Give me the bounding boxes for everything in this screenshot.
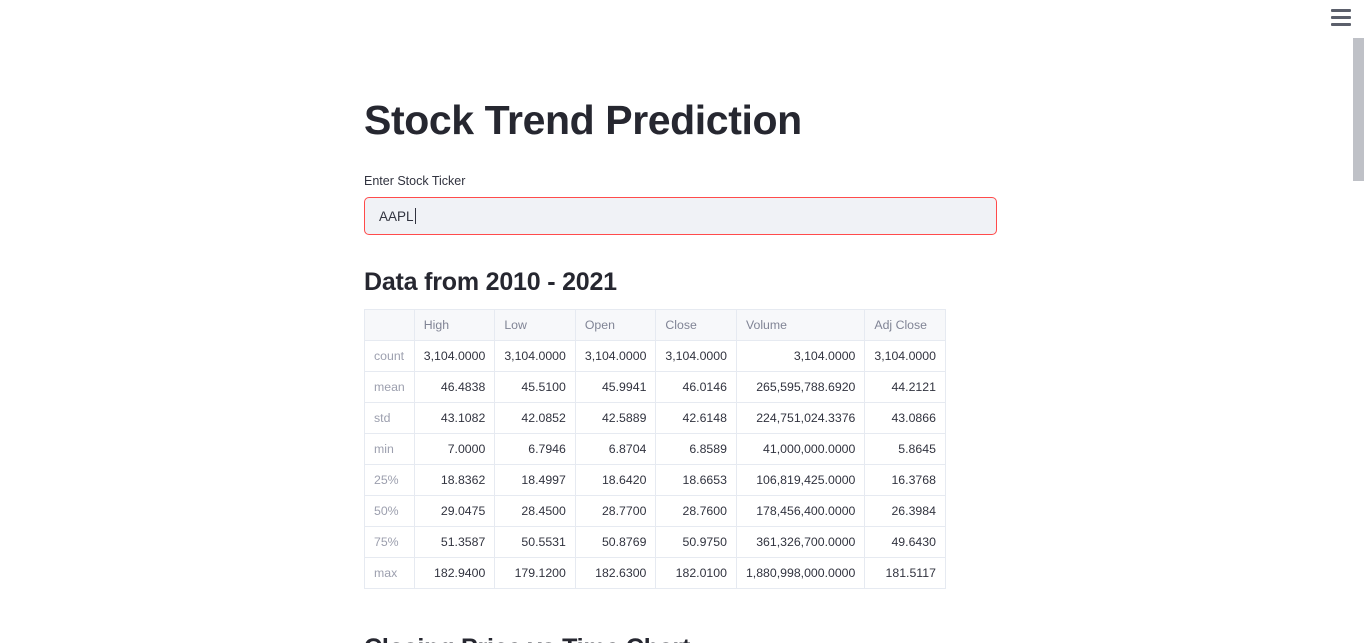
row-label: 50%: [365, 496, 415, 527]
column-header-low: Low: [495, 310, 576, 341]
cell: 106,819,425.0000: [736, 465, 864, 496]
cell: 6.8589: [656, 434, 737, 465]
cell: 182.9400: [414, 558, 495, 589]
row-label: min: [365, 434, 415, 465]
cell: 42.6148: [656, 403, 737, 434]
table-row: max 182.9400 179.1200 182.6300 182.0100 …: [365, 558, 946, 589]
menu-bar-1: [1331, 9, 1351, 12]
table-row: count 3,104.0000 3,104.0000 3,104.0000 3…: [365, 341, 946, 372]
table-row: 25% 18.8362 18.4997 18.6420 18.6653 106,…: [365, 465, 946, 496]
row-label: max: [365, 558, 415, 589]
chart-section-title: Closing Price vs Time Chart: [364, 633, 1064, 643]
table-header-row: High Low Open Close Volume Adj Close: [365, 310, 946, 341]
table-row: min 7.0000 6.7946 6.8704 6.8589 41,000,0…: [365, 434, 946, 465]
cell: 51.3587: [414, 527, 495, 558]
cell: 6.7946: [495, 434, 576, 465]
cell: 178,456,400.0000: [736, 496, 864, 527]
cell: 3,104.0000: [414, 341, 495, 372]
cell: 46.4838: [414, 372, 495, 403]
cell: 49.6430: [865, 527, 946, 558]
cell: 182.0100: [656, 558, 737, 589]
row-label: mean: [365, 372, 415, 403]
cell: 3,104.0000: [736, 341, 864, 372]
data-section-title: Data from 2010 - 2021: [364, 267, 1064, 297]
table-row: 75% 51.3587 50.5531 50.8769 50.9750 361,…: [365, 527, 946, 558]
cell: 50.5531: [495, 527, 576, 558]
cell: 179.1200: [495, 558, 576, 589]
cell: 29.0475: [414, 496, 495, 527]
cell: 3,104.0000: [656, 341, 737, 372]
cell: 50.9750: [656, 527, 737, 558]
cell: 43.0866: [865, 403, 946, 434]
ticker-input-label: Enter Stock Ticker: [364, 174, 997, 189]
table-header: High Low Open Close Volume Adj Close: [365, 310, 946, 341]
text-caret: [415, 208, 416, 224]
row-label: count: [365, 341, 415, 372]
cell: 45.5100: [495, 372, 576, 403]
cell: 43.1082: [414, 403, 495, 434]
cell: 3,104.0000: [575, 341, 656, 372]
cell: 16.3768: [865, 465, 946, 496]
cell: 18.6420: [575, 465, 656, 496]
page-scrollbar-thumb[interactable]: [1353, 38, 1364, 181]
column-header-volume: Volume: [736, 310, 864, 341]
main-content: Stock Trend Prediction Enter Stock Ticke…: [364, 0, 1064, 643]
cell: 18.6653: [656, 465, 737, 496]
cell: 265,595,788.6920: [736, 372, 864, 403]
streamlit-app: Stock Trend Prediction Enter Stock Ticke…: [0, 0, 1366, 643]
cell: 41,000,000.0000: [736, 434, 864, 465]
cell: 28.7600: [656, 496, 737, 527]
column-header-adj-close: Adj Close: [865, 310, 946, 341]
cell: 1,880,998,000.0000: [736, 558, 864, 589]
table-corner-cell: [365, 310, 415, 341]
cell: 42.0852: [495, 403, 576, 434]
stock-ticker-input[interactable]: AAPL: [364, 197, 997, 235]
cell: 224,751,024.3376: [736, 403, 864, 434]
page-scrollbar[interactable]: [1351, 0, 1366, 643]
table-body: count 3,104.0000 3,104.0000 3,104.0000 3…: [365, 341, 946, 589]
cell: 45.9941: [575, 372, 656, 403]
cell: 18.4997: [495, 465, 576, 496]
cell: 7.0000: [414, 434, 495, 465]
cell: 3,104.0000: [495, 341, 576, 372]
cell: 28.4500: [495, 496, 576, 527]
row-label: std: [365, 403, 415, 434]
column-header-high: High: [414, 310, 495, 341]
cell: 26.3984: [865, 496, 946, 527]
menu-bar-3: [1331, 23, 1351, 26]
table-row: 50% 29.0475 28.4500 28.7700 28.7600 178,…: [365, 496, 946, 527]
describe-table: High Low Open Close Volume Adj Close cou…: [364, 309, 946, 589]
cell: 182.6300: [575, 558, 656, 589]
cell: 181.5117: [865, 558, 946, 589]
cell: 18.8362: [414, 465, 495, 496]
table-row: mean 46.4838 45.5100 45.9941 46.0146 265…: [365, 372, 946, 403]
menu-bar-2: [1331, 16, 1351, 19]
table-row: std 43.1082 42.0852 42.5889 42.6148 224,…: [365, 403, 946, 434]
stock-ticker-value: AAPL: [379, 209, 414, 224]
ticker-input-widget: Enter Stock Ticker AAPL: [364, 174, 997, 235]
column-header-open: Open: [575, 310, 656, 341]
dataframe-container[interactable]: High Low Open Close Volume Adj Close cou…: [364, 309, 1064, 589]
cell: 6.8704: [575, 434, 656, 465]
column-header-close: Close: [656, 310, 737, 341]
cell: 28.7700: [575, 496, 656, 527]
cell: 50.8769: [575, 527, 656, 558]
cell: 42.5889: [575, 403, 656, 434]
page-title: Stock Trend Prediction: [364, 0, 1064, 144]
cell: 361,326,700.0000: [736, 527, 864, 558]
cell: 5.8645: [865, 434, 946, 465]
cell: 46.0146: [656, 372, 737, 403]
cell: 44.2121: [865, 372, 946, 403]
cell: 3,104.0000: [865, 341, 946, 372]
row-label: 25%: [365, 465, 415, 496]
row-label: 75%: [365, 527, 415, 558]
